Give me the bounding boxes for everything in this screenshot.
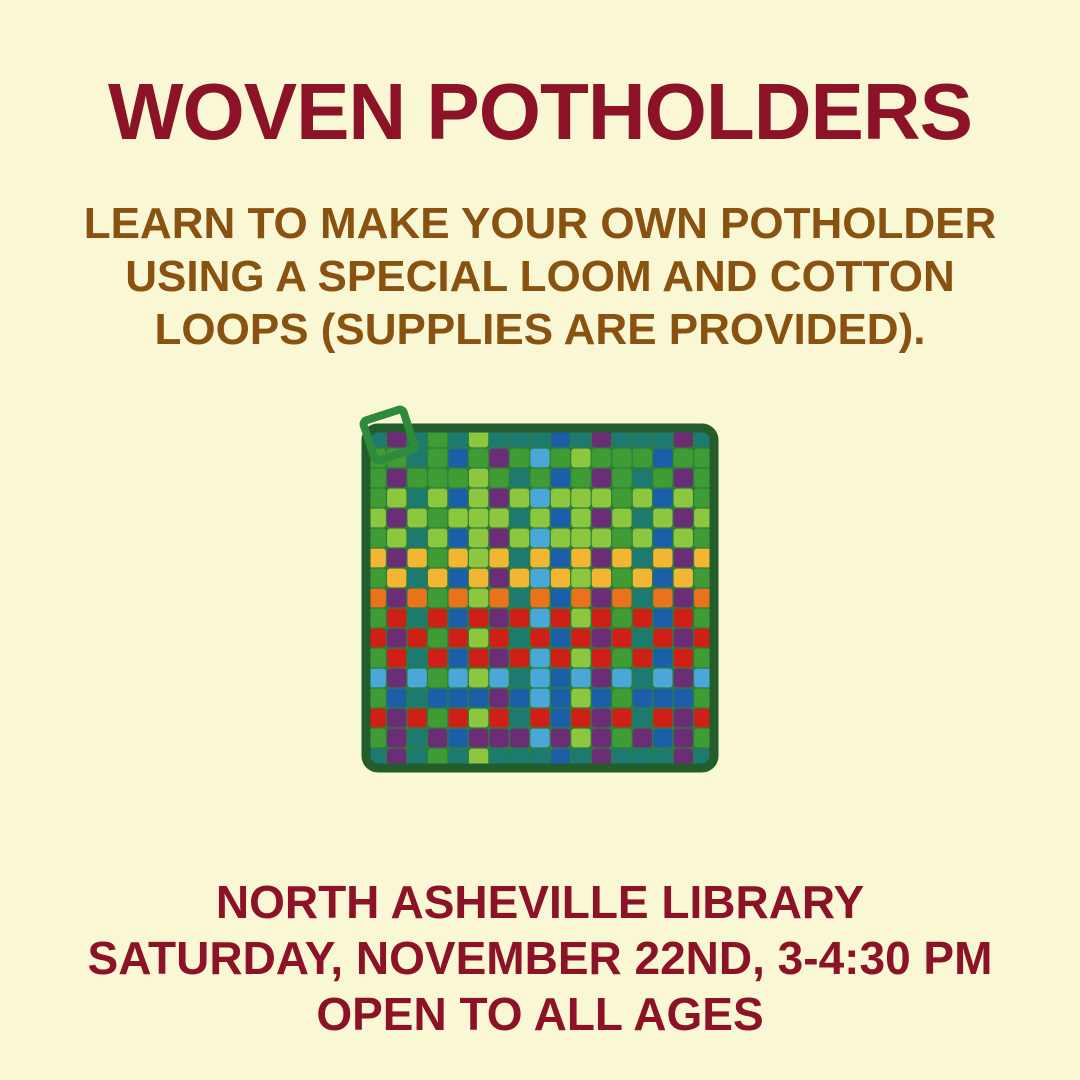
venue-line: North Asheville Library <box>0 874 1080 930</box>
event-poster: Woven Potholders Learn to make your own … <box>0 0 1080 1080</box>
description-line-2: using a special loom and cotton <box>40 251 1040 304</box>
event-details: North Asheville Library Saturday, Novemb… <box>0 874 1080 1042</box>
poster-description: Learn to make your own potholder using a… <box>40 198 1040 356</box>
datetime-line: Saturday, November 22nd, 3-4:30 PM <box>0 930 1080 986</box>
potholder-image-container <box>340 408 740 788</box>
description-line-3: loops (supplies are provided). <box>40 304 1040 357</box>
page-title: Woven Potholders <box>0 72 1080 152</box>
weave-pattern <box>360 422 720 774</box>
woven-potholder-photo <box>360 422 720 774</box>
description-line-1: Learn to make your own potholder <box>40 198 1040 251</box>
audience-line: Open to All Ages <box>0 986 1080 1042</box>
